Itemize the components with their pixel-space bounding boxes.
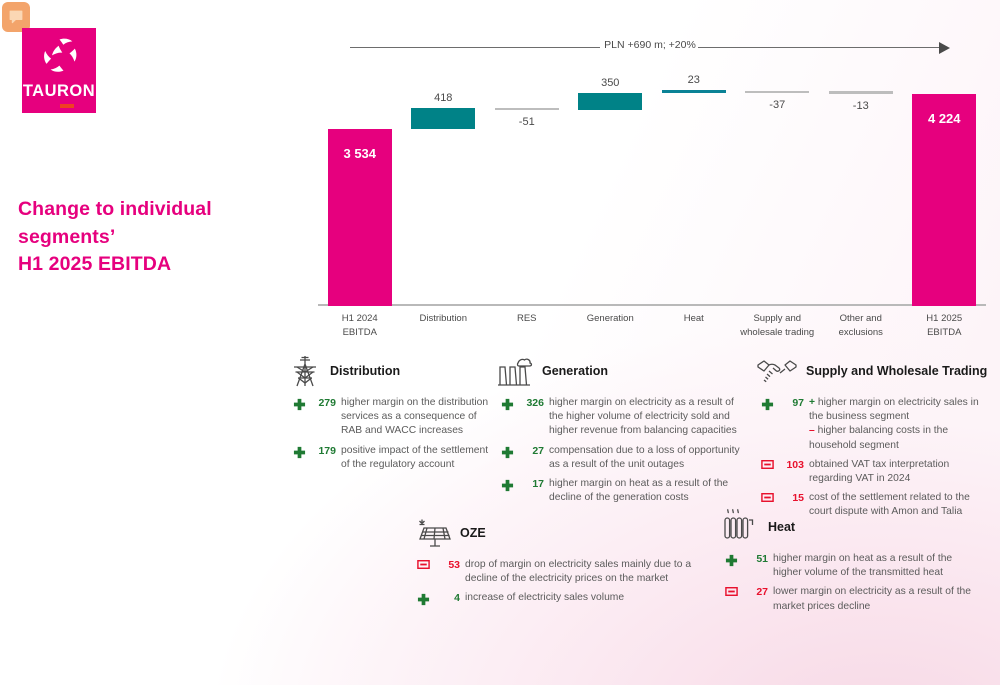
panel-bullet-text: higher margin on the distribution servic… <box>341 396 491 439</box>
chart-value-label: 418 <box>434 92 452 104</box>
chart-bar <box>662 90 726 93</box>
chart-bar <box>745 91 809 94</box>
plus-icon <box>412 593 434 606</box>
tauron-logo: TAURON <box>22 28 96 113</box>
power-tower-icon <box>288 354 322 388</box>
chart-column-6: -13 <box>819 70 903 306</box>
panel-bullet-item: 27compensation due to a loss of opportun… <box>496 444 758 472</box>
chart-column-1: 418 <box>402 70 486 306</box>
chart-value-label: -51 <box>519 116 535 128</box>
panel-items: 326higher margin on electricity as a res… <box>496 396 758 505</box>
panel-title: Distribution <box>330 364 400 378</box>
panel-bullet-text: higher margin on electricity as a result… <box>549 396 749 439</box>
panel-bullet-value: 97 <box>780 396 804 410</box>
panel-items: 279higher margin on the distribution ser… <box>288 396 503 472</box>
arrow-line-right <box>698 47 942 48</box>
plus-icon <box>756 398 778 411</box>
panel-bullet-text: compensation due to a loss of opportunit… <box>549 444 749 472</box>
panel-title: OZE <box>460 526 486 540</box>
axis-tick-label: H1 2025EBITDA <box>894 312 994 340</box>
panel-bullet-value: 15 <box>780 491 804 505</box>
panel-bullet-item: 53drop of margin on electricity sales ma… <box>412 558 702 586</box>
minus-icon <box>720 587 742 596</box>
panel-bullet-text: lower margin on electricity as a result … <box>773 585 981 613</box>
chart-bar <box>829 91 893 94</box>
chart-column-7: 4 224 <box>903 70 987 306</box>
panel-bullet-text: higher margin on heat as a result of the… <box>549 477 749 505</box>
chart-value-label: 4 224 <box>928 111 961 126</box>
arrow-line-left <box>350 47 600 48</box>
page-title: Change to individual segments’ H1 2025 E… <box>18 196 258 279</box>
panel-generation: Generation 326higher margin on electrici… <box>496 352 758 510</box>
chart-bar <box>578 93 642 111</box>
panel-bullet-value: 103 <box>780 458 804 472</box>
plus-icon <box>496 479 518 492</box>
chart-column-3: 350 <box>569 70 653 306</box>
panel-title: Generation <box>542 364 608 378</box>
chart-x-axis: H1 2024EBITDADistributionRESGenerationHe… <box>318 312 986 352</box>
chart-value-label: -13 <box>853 100 869 112</box>
panel-items: 97+ higher margin on electricity sales i… <box>756 396 996 520</box>
panel-bullet-item: 27lower margin on electricity as a resul… <box>720 585 995 613</box>
panel-bullet-item: 17higher margin on heat as a result of t… <box>496 477 758 505</box>
panel-bullet-text: higher margin on heat as a result of the… <box>773 552 981 580</box>
minus-icon <box>412 560 434 569</box>
panel-title: Heat <box>768 520 795 534</box>
panel-bullet-value: 53 <box>436 558 460 572</box>
panel-bullet-item: 103obtained VAT tax interpretation regar… <box>756 458 996 486</box>
panel-bullet-value: 51 <box>744 552 768 566</box>
arrow-head-icon <box>939 42 950 54</box>
chart-bar <box>411 108 475 129</box>
panel-bullet-text: obtained VAT tax interpretation regardin… <box>809 458 987 486</box>
panel-bullet-value: 179 <box>312 444 336 458</box>
panel-items: 53drop of margin on electricity sales ma… <box>412 558 702 606</box>
panel-bullet-item: 326higher margin on electricity as a res… <box>496 396 758 439</box>
panel-bullet-item: 51higher margin on heat as a result of t… <box>720 552 995 580</box>
panel-bullet-text: + higher margin on electricity sales in … <box>809 396 987 453</box>
panel-bullet-item: 4increase of electricity sales volume <box>412 591 702 606</box>
panel-bullet-value: 279 <box>312 396 336 410</box>
panel-items: 51higher margin on heat as a result of t… <box>720 552 995 614</box>
chart-annotation-arrow: PLN +690 m; +20% <box>350 34 950 56</box>
plus-icon <box>288 398 310 411</box>
chart-column-2: -51 <box>485 70 569 306</box>
plus-icon <box>720 554 742 567</box>
chart-value-label: -37 <box>769 99 785 111</box>
panel-bullet-value: 27 <box>520 444 544 458</box>
radiator-icon <box>720 507 760 547</box>
panel-bullet-item: 179positive impact of the settlement of … <box>288 444 503 472</box>
chart-value-label: 23 <box>688 74 700 86</box>
chart-plot-area: 3 534418-5135023-37-134 224 <box>318 70 986 306</box>
tauron-wordmark: TAURON <box>22 82 96 101</box>
panel-distribution: Distribution 279higher margin on the dis… <box>288 352 503 477</box>
panel-heat: Heat 51higher margin on heat as a result… <box>720 508 995 619</box>
plus-icon <box>288 446 310 459</box>
minus-icon <box>756 460 778 469</box>
panel-bullet-value: 326 <box>520 396 544 410</box>
panel-bullet-text: increase of electricity sales volume <box>465 591 697 605</box>
panel-bullet-value: 4 <box>436 591 460 605</box>
chart-bar <box>495 108 559 111</box>
chart-value-label: 3 534 <box>343 146 376 161</box>
panel-title: Supply and Wholesale Trading <box>806 364 987 378</box>
panel-oze: OZE 53drop of margin on electricity sale… <box>412 514 702 611</box>
panel-bullet-item: 97+ higher margin on electricity sales i… <box>756 396 996 453</box>
handshake-icon <box>756 356 798 386</box>
power-plant-icon <box>496 353 534 389</box>
page-title-line-1: Change to individual <box>18 196 258 224</box>
plus-icon <box>496 446 518 459</box>
tauron-pinwheel-icon <box>22 36 96 76</box>
panel-bullet-value: 17 <box>520 477 544 491</box>
logo-accent-tick <box>60 104 74 108</box>
panel-bullet-item: 279higher margin on the distribution ser… <box>288 396 503 439</box>
chart-annotation-label: PLN +690 m; +20% <box>600 39 700 51</box>
page-title-line-3: H1 2025 EBITDA <box>18 251 258 279</box>
waterfall-chart: PLN +690 m; +20% 3 534418-5135023-37-134… <box>318 28 986 338</box>
page-title-line-2: segments’ <box>18 224 258 252</box>
solar-panel-icon <box>412 516 452 550</box>
panel-bullet-text: drop of margin on electricity sales main… <box>465 558 697 586</box>
panel-bullet-value: 27 <box>744 585 768 599</box>
minus-icon <box>756 493 778 502</box>
panel-bullet-text: positive impact of the settlement of the… <box>341 444 491 472</box>
plus-icon <box>496 398 518 411</box>
chart-column-4: 23 <box>652 70 736 306</box>
chart-value-label: 350 <box>601 77 619 89</box>
chart-column-0: 3 534 <box>318 70 402 306</box>
chart-column-5: -37 <box>736 70 820 306</box>
panel-supply-wholesale-trading: Supply and Wholesale Trading 97+ higher … <box>756 352 996 525</box>
